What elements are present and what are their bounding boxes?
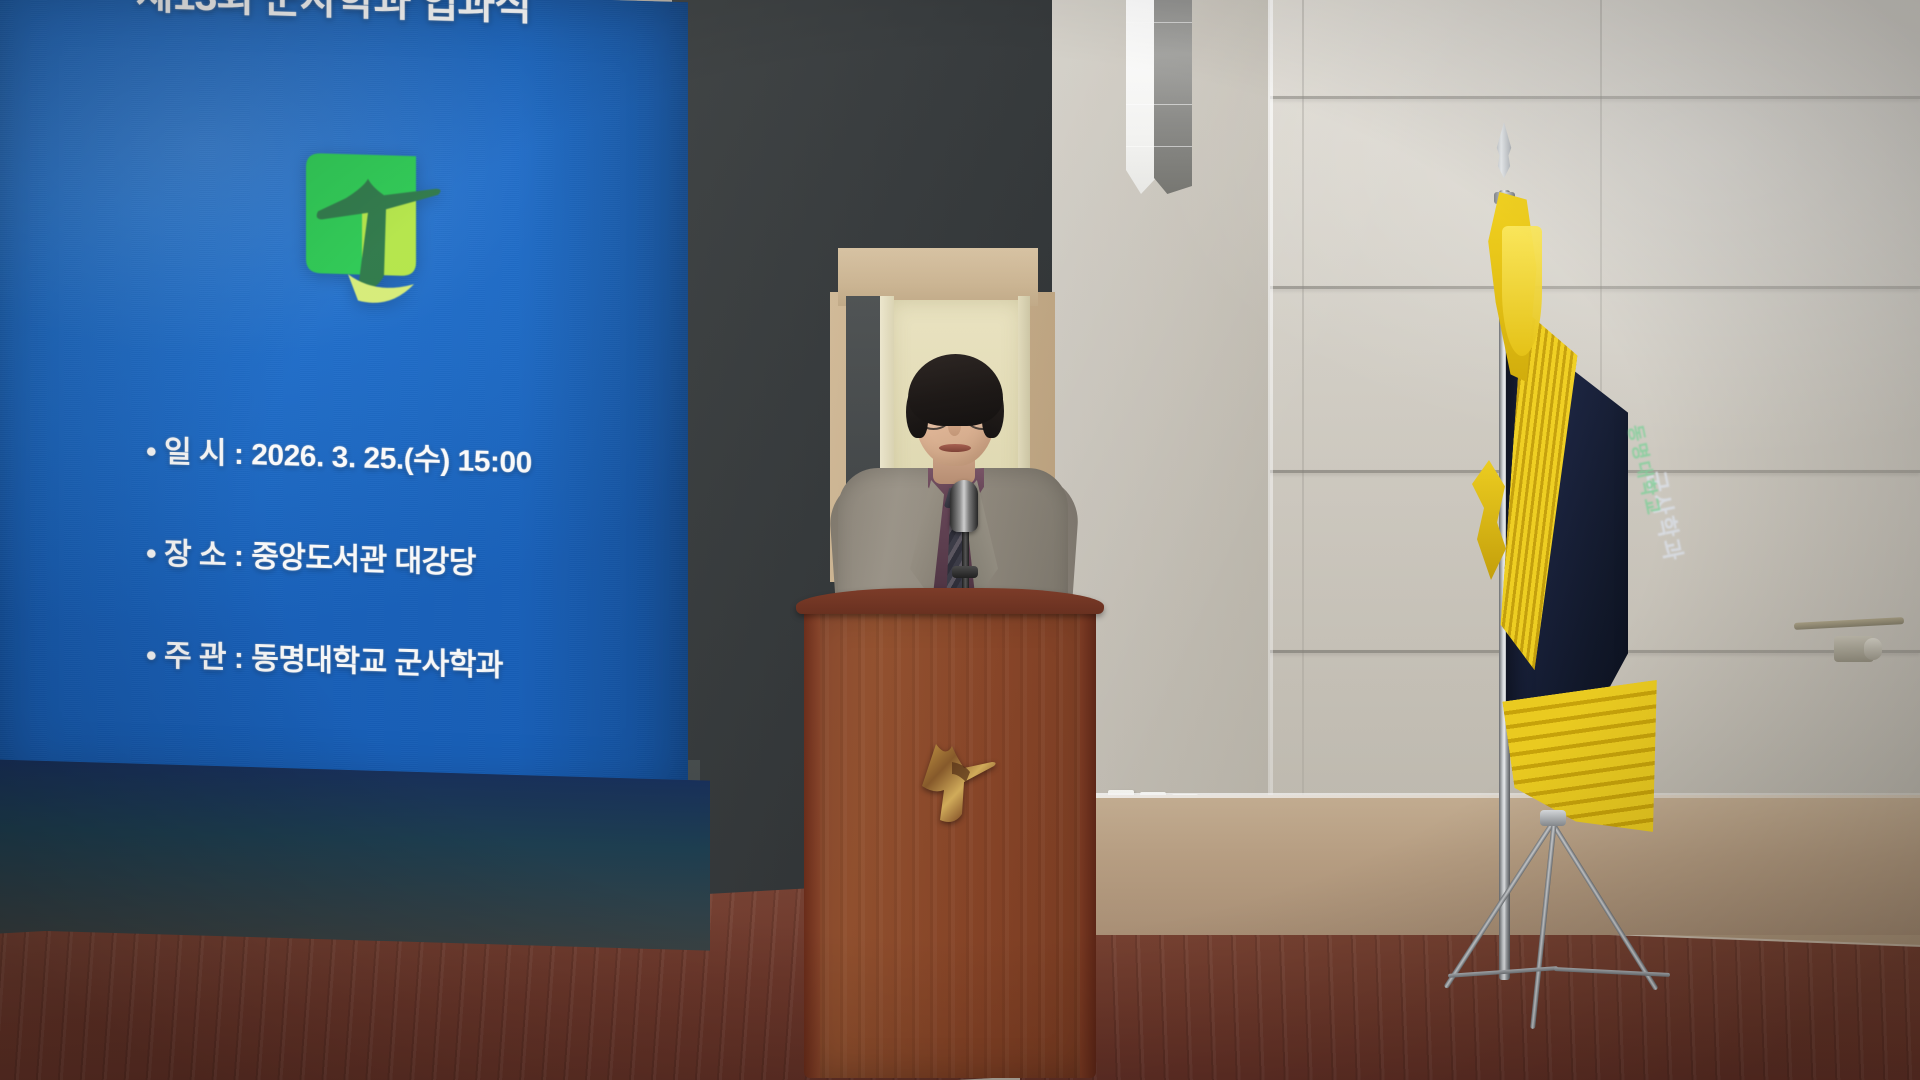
slide-bullet-3: •주 관 : 동명대학교 군사학과 [146,630,706,691]
slide-bullet-1-text: 일 시 : 2026. 3. 25.(수) 15:00 [164,436,532,480]
slide-bullet-1: •일 시 : 2026. 3. 25.(수) 15:00 [146,426,706,487]
flag-tassel-inner [1502,226,1542,356]
tripod-hub [1540,810,1566,826]
lectern-frame-left [804,608,820,1078]
lectern-frame-right [1080,608,1096,1078]
slide-bullet-3-text: 주 관 : 동명대학교 군사학과 [164,640,503,683]
bullet-glyph: • [146,435,156,469]
lectern-crest-emblem-icon [908,738,1000,826]
tripod-leg-left [1548,819,1658,991]
tripod-crossbar-right [1554,967,1670,977]
mouth [939,444,971,452]
wall-corner-edge [1268,0,1273,820]
hair [908,354,1003,426]
slide-bullet-list: •일 시 : 2026. 3. 25.(수) 15:00 •장 소 : 중앙도서… [146,426,706,749]
bullet-glyph: • [146,537,156,571]
slide-title: 제13회 군사학과 입과식 [136,0,656,35]
auditorium-photo-scene: 제13회 군사학과 입과식 •일 시 : 2026. 3. 25.(수) 15:… [0,0,1920,1080]
spear-finial-icon [1490,122,1518,198]
microphone-mount [952,566,978,578]
tripod-crossbar-left [1448,966,1558,978]
university-logo-icon [288,140,448,310]
slide-bullet-2: •장 소 : 중앙도서관 대강당 [146,528,706,589]
bullet-glyph: • [146,639,156,673]
screen-lower-shadow-band [0,759,710,950]
hanging-acoustic-baffle [1126,0,1192,194]
lectern-front-panel [804,608,1096,1078]
flag-tripod-stand [1402,820,1702,1050]
door-closer-icon [1834,636,1874,662]
wooden-lectern [800,588,1100,1080]
slide-bullet-2-text: 장 소 : 중앙도서관 대강당 [164,538,476,580]
microphone-icon [950,480,978,532]
ceremonial-flag: 군사학과 동명대학교 [1440,130,1700,920]
lectern-top-rail [796,588,1104,614]
projection-screen: 제13회 군사학과 입과식 •일 시 : 2026. 3. 25.(수) 15:… [0,0,688,802]
